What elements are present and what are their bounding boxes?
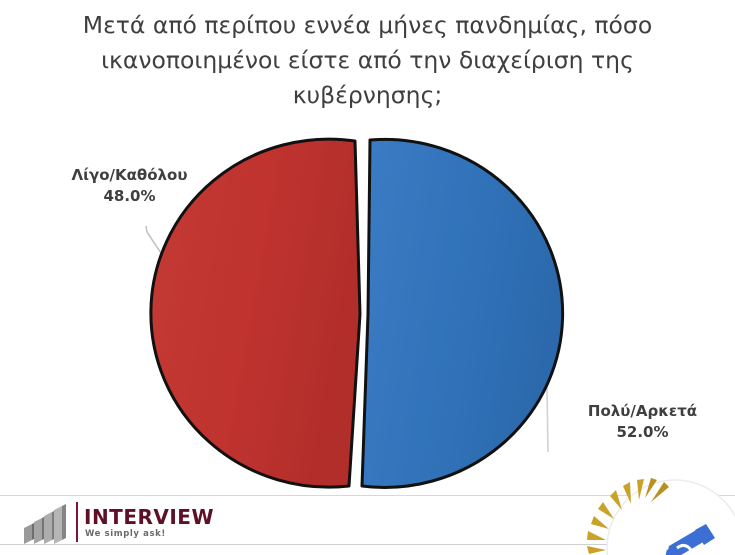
sun-and-pencil-icon [565,478,735,555]
pie-label-poly-arketa: Πολύ/Αρκετά 52.0% [555,401,730,443]
corner-badge [565,478,735,555]
pie-slice-poly-arketa[interactable] [362,139,563,487]
pie-label-ligo-katholou: Λίγο/Καθόλου 48.0% [42,165,217,207]
pie-label-left-percent: 48.0% [42,186,217,207]
logo-divider [76,502,78,542]
logo-wordmark: INTERVIEW [84,505,214,529]
pie-chart: Λίγο/Καθόλου 48.0% Πολύ/Αρκετά 52.0% [0,0,735,500]
pie-label-left-name: Λίγο/Καθόλου [72,166,188,184]
ascending-bars-icon [20,502,74,544]
logo-tagline: We simply ask! [85,529,166,539]
slide-canvas: Μετά από περίπου εννέα μήνες πανδημίας, … [0,0,735,555]
pie-label-right-name: Πολύ/Αρκετά [588,402,697,420]
pie-label-right-percent: 52.0% [555,422,730,443]
interview-logo: INTERVIEW We simply ask! [20,500,220,546]
